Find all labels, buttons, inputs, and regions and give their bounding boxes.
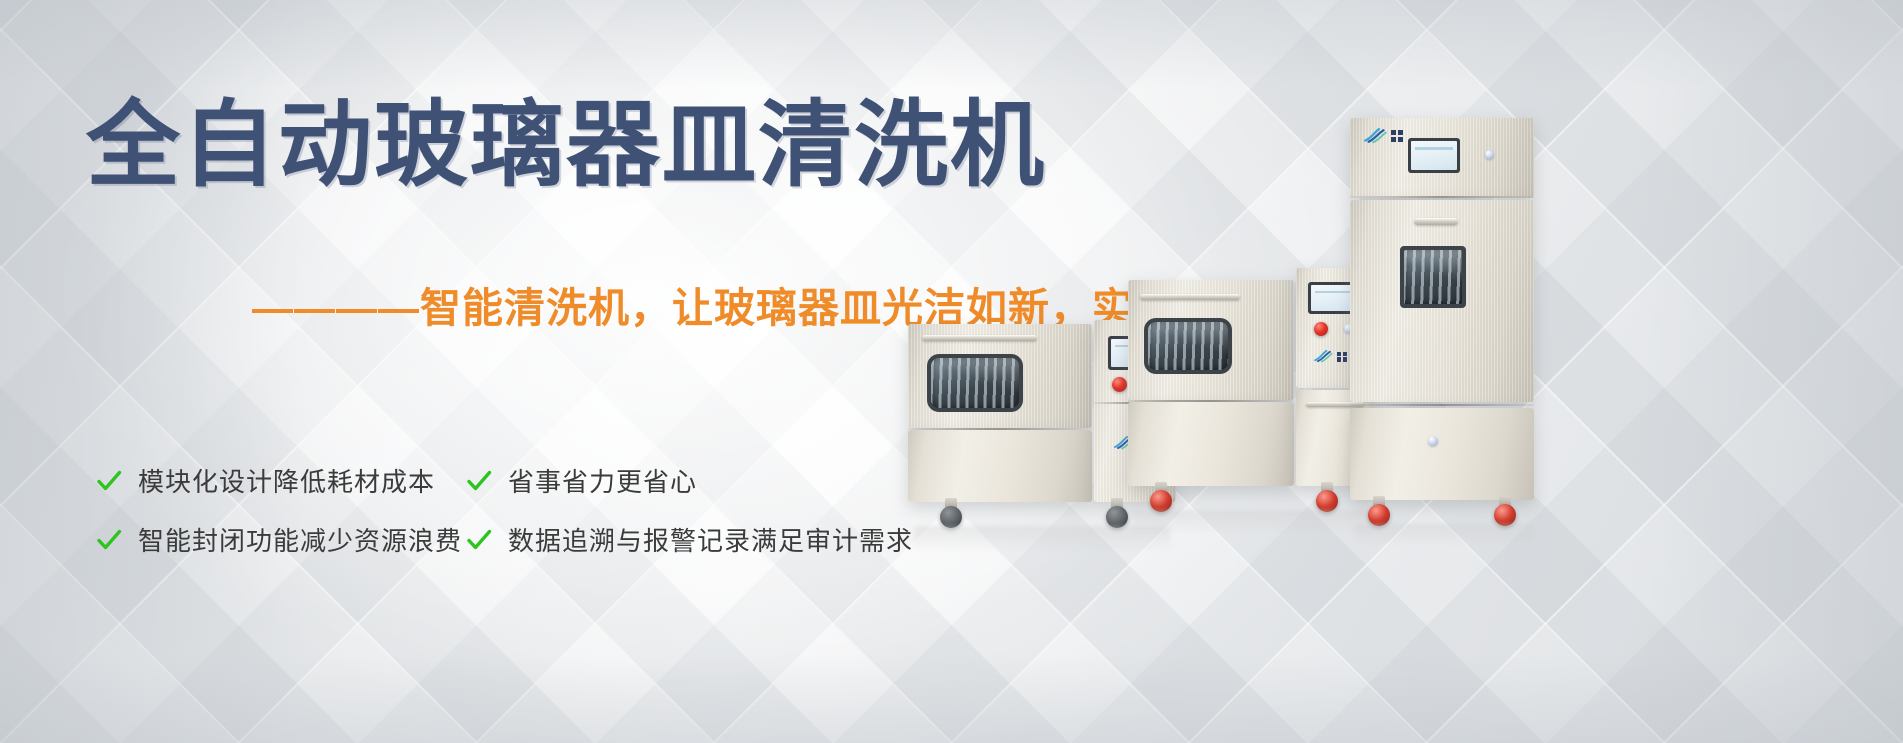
panel-seam [1128, 400, 1294, 402]
status-indicator-light [1485, 150, 1494, 159]
caster-wheel [1492, 496, 1518, 526]
product-benchtop-glassware-washer [1128, 268, 1378, 504]
emergency-stop-button[interactable] [1314, 322, 1328, 336]
logo-squares-icon [1391, 130, 1403, 142]
floor-reflection [1354, 524, 1534, 546]
base-port [1428, 436, 1438, 446]
emergency-stop-button[interactable] [1112, 377, 1127, 392]
door-handle [1414, 218, 1458, 225]
viewing-window [1148, 322, 1228, 370]
panel-seam [1350, 404, 1534, 406]
check-icon [96, 468, 122, 494]
feature-list: 模块化设计降低耗材成本 省事省力更省心 智能封闭功能减少资源浪费 数据追溯与报警… [96, 462, 913, 558]
logo-squares-icon [1337, 352, 1347, 362]
logo-mark-icon [1314, 350, 1333, 363]
cabinet-base-section [1350, 408, 1534, 500]
viewing-window [931, 358, 1019, 408]
brand-logo [1314, 350, 1347, 363]
washer-lower-drawer [908, 430, 1092, 502]
floor-reflection [1132, 510, 1374, 534]
caster-wheel [1366, 496, 1392, 526]
door-handle [922, 335, 1037, 341]
check-icon [466, 468, 492, 494]
door-handle [1140, 294, 1240, 300]
check-icon [96, 527, 122, 553]
feature-label: 模块化设计降低耗材成本 [138, 462, 435, 499]
touchscreen-content [1411, 141, 1457, 170]
caster-wheel [1148, 482, 1174, 512]
caster-wheel [1104, 498, 1130, 528]
feature-label: 省事省力更省心 [508, 462, 697, 499]
product-images [880, 0, 1903, 743]
feature-item: 数据追溯与报警记录满足审计需求 [466, 521, 913, 558]
product-tall-cabinet-glassware-washer [1350, 118, 1550, 518]
feature-label: 数据追溯与报警记录满足审计需求 [508, 521, 913, 558]
touchscreen-display[interactable] [1408, 138, 1460, 173]
check-icon [466, 527, 492, 553]
logo-mark-icon [1364, 128, 1387, 144]
panel-seam [908, 428, 1092, 430]
feature-item: 模块化设计降低耗材成本 [96, 462, 466, 499]
feature-label: 智能封闭功能减少资源浪费 [138, 521, 462, 558]
brand-logo [1364, 128, 1403, 144]
feature-item: 省事省力更省心 [466, 462, 913, 499]
caster-wheel [1314, 482, 1340, 512]
product-banner: 全自动玻璃器皿清洗机 ————智能清洗机，让玻璃器皿光洁如新，实验无忧！ 模块化… [0, 0, 1903, 743]
caster-wheel [938, 498, 964, 528]
feature-item: 智能封闭功能减少资源浪费 [96, 521, 466, 558]
washer-lower-drawer [1128, 402, 1294, 486]
viewing-window [1404, 250, 1462, 304]
panel-seam [1350, 196, 1534, 198]
